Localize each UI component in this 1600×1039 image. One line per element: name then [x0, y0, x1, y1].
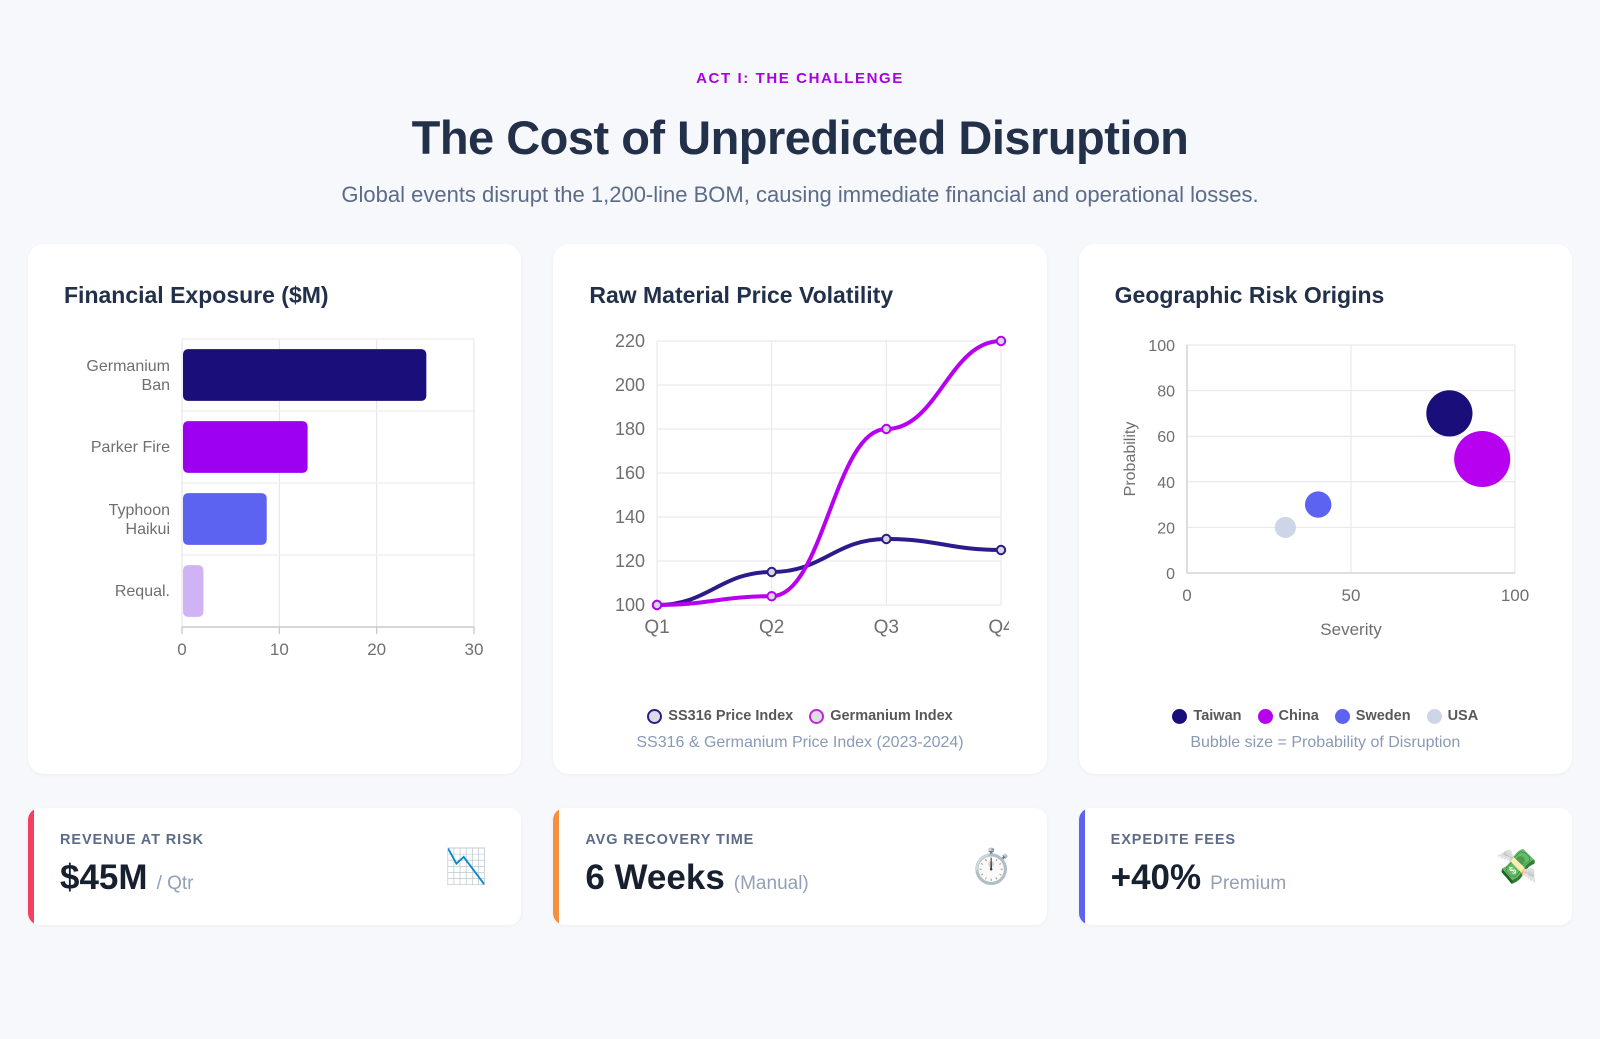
bar-xtick-label: 30: [465, 640, 484, 659]
plot-price-volatility: 100120140160180200220Q1Q2Q3Q4: [589, 327, 1010, 704]
kpi-text-block: AVG RECOVERY TIME6 Weeks(Manual): [579, 832, 808, 898]
act-eyebrow: ACT I: THE CHALLENGE: [28, 0, 1572, 87]
line-ytick-label: 140: [615, 507, 645, 527]
legend-item-usa[interactable]: USA: [1427, 708, 1479, 724]
kpi-value-line: $45M/ Qtr: [60, 858, 204, 898]
kpi-value-line: +40%Premium: [1111, 858, 1287, 898]
line-datapoint: [997, 546, 1005, 554]
kpi-card-expedite-fees[interactable]: EXPEDITE FEES+40%Premium💸: [1079, 808, 1572, 925]
kpi-value: $45M: [60, 858, 148, 898]
legend-label: USA: [1448, 708, 1479, 724]
legend-label: Germanium Index: [830, 708, 952, 724]
stopwatch-icon: ⏱️: [970, 832, 1020, 884]
legend-swatch-icon: [1335, 709, 1350, 724]
bar-requal: [183, 565, 203, 617]
caption-price-volatility: SS316 & Germanium Price Index (2023-2024…: [589, 734, 1010, 752]
line-ytick-label: 220: [615, 331, 645, 351]
line-datapoint: [768, 592, 776, 600]
bubble-ytick-label: 40: [1157, 475, 1175, 492]
bubble-taiwan: [1426, 390, 1472, 436]
money-with-wings-icon: 💸: [1496, 832, 1546, 884]
bubble-xtick-label: 0: [1182, 586, 1191, 605]
card-geographic-risk: Geographic Risk Origins 0204060801000501…: [1079, 244, 1572, 774]
legend-label: SS316 Price Index: [668, 708, 793, 724]
line-ytick-label: 120: [615, 551, 645, 571]
bar-xtick-label: 20: [367, 640, 386, 659]
kpi-text-block: EXPEDITE FEES+40%Premium: [1105, 832, 1287, 898]
card-financial-exposure: Financial Exposure ($M) GermaniumBanPark…: [28, 244, 521, 774]
line-xtick-label: Q3: [874, 617, 899, 638]
card-price-volatility: Raw Material Price Volatility 1001201401…: [553, 244, 1046, 774]
bubble-yaxis-label: Probability: [1122, 422, 1139, 497]
bubble-ytick-label: 100: [1148, 338, 1175, 355]
bubble-ytick-label: 20: [1157, 520, 1175, 537]
bar-typhoon-haikui: [183, 493, 267, 545]
line-ytick-label: 160: [615, 463, 645, 483]
kpi-label: EXPEDITE FEES: [1111, 832, 1287, 848]
kpi-accent-bar: [28, 808, 34, 925]
legend-item-china[interactable]: China: [1258, 708, 1319, 724]
kpi-value: 6 Weeks: [585, 858, 724, 898]
bar-chart-svg: GermaniumBanParker FireTyphoonHaikuiRequ…: [64, 327, 484, 687]
bubble-ytick-label: 60: [1157, 429, 1175, 446]
bubble-xtick-label: 50: [1341, 586, 1360, 605]
legend-swatch-icon: [1258, 709, 1273, 724]
kpi-label: REVENUE AT RISK: [60, 832, 204, 848]
legend-label: Sweden: [1356, 708, 1411, 724]
bubble-china: [1454, 431, 1510, 487]
line-datapoint: [768, 568, 776, 576]
bubble-sweden: [1305, 491, 1331, 517]
caption-geographic-risk: Bubble size = Probability of Disruption: [1115, 734, 1536, 752]
bubble-chart-svg: 020406080100050100SeverityProbability: [1115, 327, 1535, 657]
line-datapoint: [882, 535, 890, 543]
legend-geographic-risk: TaiwanChinaSwedenUSA: [1115, 708, 1536, 724]
chart-cards-row: Financial Exposure ($M) GermaniumBanPark…: [28, 244, 1572, 774]
kpi-card-avg-recovery-time[interactable]: AVG RECOVERY TIME6 Weeks(Manual)⏱️: [553, 808, 1046, 925]
line-ytick-label: 100: [615, 595, 645, 615]
line-xtick-label: Q4: [989, 617, 1010, 638]
dashboard-page: ACT I: THE CHALLENGE The Cost of Unpredi…: [0, 0, 1600, 1039]
bubble-usa: [1274, 517, 1295, 538]
page-subtitle: Global events disrupt the 1,200-line BOM…: [28, 182, 1572, 208]
line-chart-svg: 100120140160180200220Q1Q2Q3Q4: [589, 327, 1009, 657]
line-xtick-label: Q1: [645, 617, 670, 638]
legend-swatch-icon: [647, 709, 662, 724]
kpi-text-block: REVENUE AT RISK$45M/ Qtr: [54, 832, 204, 898]
plot-geographic-risk: 020406080100050100SeverityProbability: [1115, 327, 1536, 704]
kpi-unit: Premium: [1210, 873, 1286, 895]
kpi-accent-bar: [553, 808, 559, 925]
line-datapoint: [653, 601, 661, 609]
kpi-value-line: 6 Weeks(Manual): [585, 858, 808, 898]
bar-ylabel: Parker Fire: [91, 439, 170, 456]
line-datapoint: [997, 337, 1005, 345]
bar-ylabel: GermaniumBan: [86, 358, 170, 394]
plot-financial-exposure: GermaniumBanParker FireTyphoonHaikuiRequ…: [64, 327, 485, 752]
legend-swatch-icon: [1172, 709, 1187, 724]
bubble-xtick-label: 100: [1500, 586, 1528, 605]
bubble-ytick-label: 0: [1166, 566, 1175, 583]
legend-swatch-icon: [809, 709, 824, 724]
legend-item-germanium-index[interactable]: Germanium Index: [809, 708, 952, 724]
bar-ylabel: Requal.: [115, 583, 170, 600]
bubble-xaxis-label: Severity: [1320, 620, 1382, 639]
legend-label: China: [1279, 708, 1319, 724]
kpi-cards-row: REVENUE AT RISK$45M/ Qtr📉AVG RECOVERY TI…: [28, 808, 1572, 925]
kpi-card-revenue-at-risk[interactable]: REVENUE AT RISK$45M/ Qtr📉: [28, 808, 521, 925]
page-title: The Cost of Unpredicted Disruption: [28, 110, 1572, 165]
line-ytick-label: 180: [615, 419, 645, 439]
kpi-label: AVG RECOVERY TIME: [585, 832, 808, 848]
kpi-unit: (Manual): [734, 873, 809, 895]
chart-title-geographic-risk: Geographic Risk Origins: [1115, 282, 1536, 309]
bar-xtick-label: 10: [270, 640, 289, 659]
kpi-unit: / Qtr: [157, 873, 194, 895]
bar-germanium-ban: [183, 349, 426, 401]
bubble-ytick-label: 80: [1157, 384, 1175, 401]
kpi-accent-bar: [1079, 808, 1085, 925]
legend-item-sweden[interactable]: Sweden: [1335, 708, 1411, 724]
chart-title-price-volatility: Raw Material Price Volatility: [589, 282, 1010, 309]
line-ytick-label: 200: [615, 375, 645, 395]
kpi-value: +40%: [1111, 858, 1202, 898]
line-series-ss316-price-index: [657, 539, 1001, 605]
legend-label: Taiwan: [1193, 708, 1241, 724]
legend-item-ss316-price-index[interactable]: SS316 Price Index: [647, 708, 793, 724]
bar-parker-fire: [183, 421, 308, 473]
bar-xtick-label: 0: [177, 640, 186, 659]
chart-decreasing-icon: 📉: [445, 832, 495, 884]
line-datapoint: [882, 425, 890, 433]
legend-price-volatility: SS316 Price IndexGermanium Index: [589, 708, 1010, 724]
line-xtick-label: Q2: [759, 617, 784, 638]
bar-ylabel: TyphoonHaikui: [109, 502, 170, 538]
legend-item-taiwan[interactable]: Taiwan: [1172, 708, 1241, 724]
legend-swatch-icon: [1427, 709, 1442, 724]
chart-title-financial-exposure: Financial Exposure ($M): [64, 282, 485, 309]
